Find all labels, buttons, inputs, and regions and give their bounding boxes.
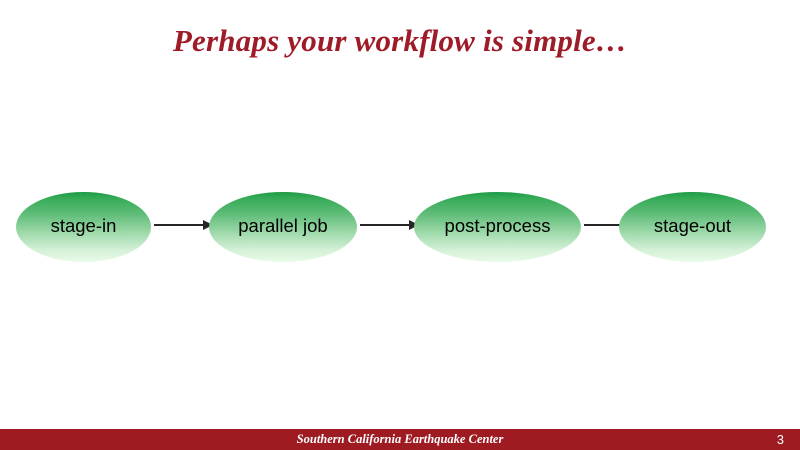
workflow-node-parallel-job[interactable]: parallel job [209, 192, 357, 262]
workflow-node-stage-out[interactable]: stage-out [619, 192, 766, 262]
workflow-node-label: parallel job [238, 217, 327, 236]
page-number: 3 [777, 429, 784, 450]
footer-band: Southern California Earthquake Center 3 [0, 429, 800, 450]
slide: Perhaps your workflow is simple… stage-i… [0, 0, 800, 450]
workflow-arrow-1 [154, 224, 212, 226]
workflow-diagram: stage-in parallel job post-process stage… [0, 180, 800, 275]
workflow-node-label: stage-in [51, 217, 117, 236]
footer-organization-label: Southern California Earthquake Center [0, 429, 800, 450]
workflow-node-label: post-process [445, 217, 551, 236]
workflow-node-stage-in[interactable]: stage-in [16, 192, 151, 262]
workflow-node-label: stage-out [654, 217, 731, 236]
workflow-arrow-2 [360, 224, 418, 226]
workflow-node-post-process[interactable]: post-process [414, 192, 581, 262]
page-title: Perhaps your workflow is simple… [0, 22, 800, 60]
